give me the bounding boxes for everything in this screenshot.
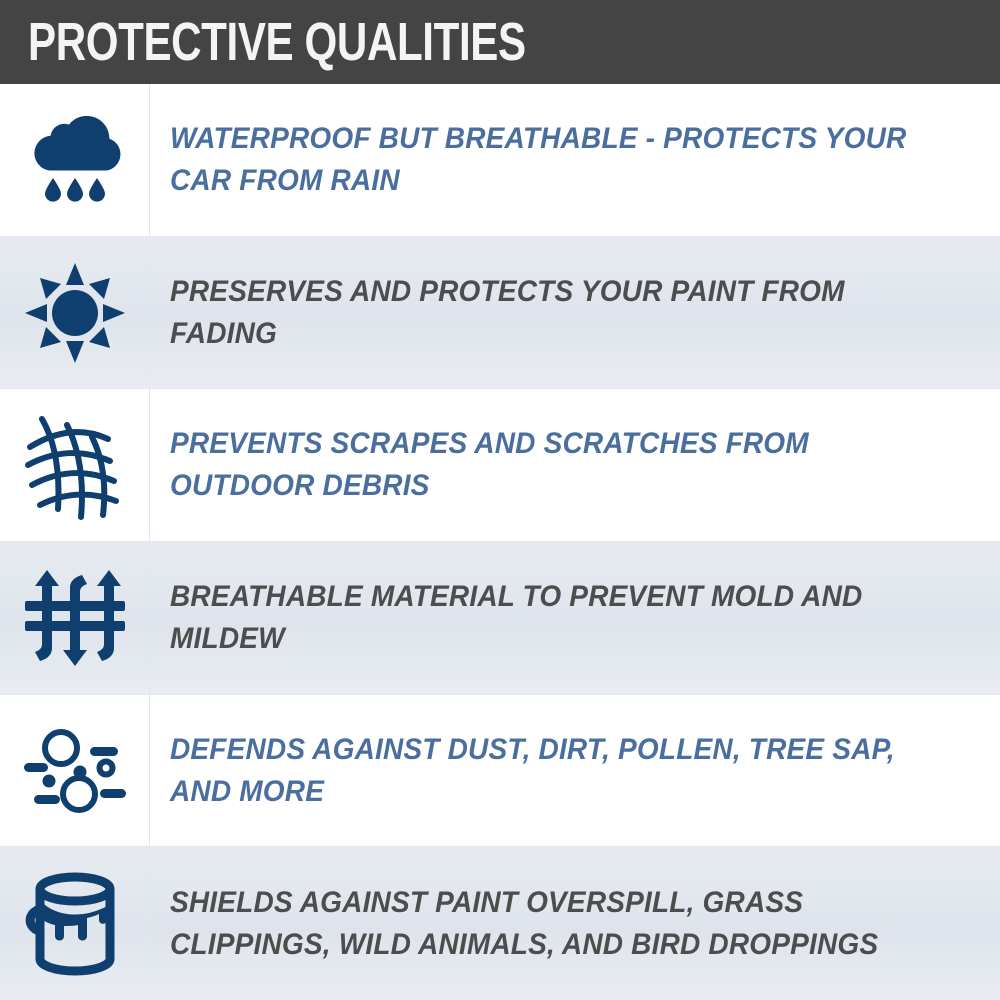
woven-mesh-icon [20, 409, 130, 521]
dust-particles-icon [20, 723, 130, 819]
list-item: PREVENTS SCRAPES AND SCRATCHES FROM OUTD… [0, 389, 1000, 542]
paint-can-icon [23, 869, 127, 979]
list-item: BREATHABLE MATERIAL TO PREVENT MOLD AND … [0, 542, 1000, 695]
feature-icon-cell [0, 847, 150, 1000]
list-item: DEFENDS AGAINST DUST, DIRT, POLLEN, TREE… [0, 695, 1000, 848]
feature-label: PREVENTS SCRAPES AND SCRATCHES FROM OUTD… [170, 423, 926, 507]
header-bar: PROTECTIVE QUALITIES [0, 0, 1000, 84]
sun-icon [23, 261, 127, 365]
list-item: SHIELDS AGAINST PAINT OVERSPILL, GRASS C… [0, 847, 1000, 1000]
feature-text-cell: PRESERVES AND PROTECTS YOUR PAINT FROM F… [150, 237, 1000, 389]
list-item: WATERPROOF BUT BREATHABLE - PROTECTS YOU… [0, 84, 1000, 237]
feature-text-cell: WATERPROOF BUT BREATHABLE - PROTECTS YOU… [150, 84, 1000, 236]
feature-label: PRESERVES AND PROTECTS YOUR PAINT FROM F… [170, 271, 926, 355]
feature-icon-cell [0, 389, 150, 541]
feature-icon-cell [0, 695, 150, 847]
feature-label: DEFENDS AGAINST DUST, DIRT, POLLEN, TREE… [170, 729, 926, 813]
feature-list: WATERPROOF BUT BREATHABLE - PROTECTS YOU… [0, 84, 1000, 1000]
list-item: PRESERVES AND PROTECTS YOUR PAINT FROM F… [0, 237, 1000, 390]
feature-text-cell: DEFENDS AGAINST DUST, DIRT, POLLEN, TREE… [150, 695, 1000, 847]
feature-text-cell: BREATHABLE MATERIAL TO PREVENT MOLD AND … [150, 542, 1000, 694]
protective-qualities-infographic: PROTECTIVE QUALITIES WATERP [0, 0, 1000, 1000]
feature-icon-cell [0, 542, 150, 694]
feature-icon-cell [0, 84, 150, 236]
feature-label: SHIELDS AGAINST PAINT OVERSPILL, GRASS C… [170, 882, 926, 966]
feature-text-cell: PREVENTS SCRAPES AND SCRATCHES FROM OUTD… [150, 389, 1000, 541]
feature-text-cell: SHIELDS AGAINST PAINT OVERSPILL, GRASS C… [150, 847, 1000, 1000]
feature-label: WATERPROOF BUT BREATHABLE - PROTECTS YOU… [170, 118, 926, 202]
airflow-arrows-icon [21, 566, 129, 670]
feature-label: BREATHABLE MATERIAL TO PREVENT MOLD AND … [170, 576, 926, 660]
feature-icon-cell [0, 237, 150, 389]
rain-cloud-icon [23, 108, 127, 212]
page-title: PROTECTIVE QUALITIES [28, 15, 526, 69]
